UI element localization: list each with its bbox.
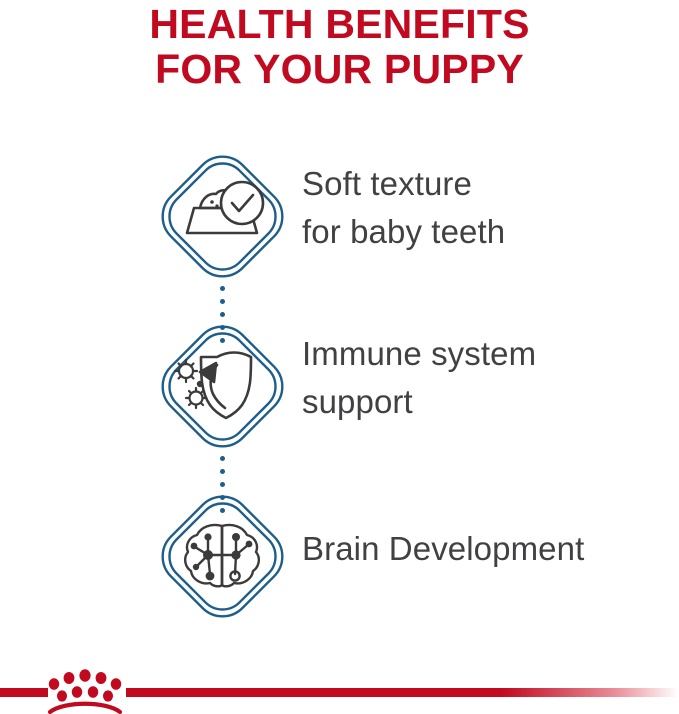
benefit-text-soft-texture: Soft texture for baby teeth: [302, 160, 679, 256]
connector-dot: [220, 286, 225, 291]
benefit-text-line-1: Immune system: [302, 330, 679, 378]
benefit-text-line-2: support: [302, 378, 679, 426]
benefits-list: Soft texture for baby teeth: [0, 150, 679, 660]
connector-dot: [220, 299, 225, 304]
benefit-text-line-2: for baby teeth: [302, 208, 679, 256]
page-title-line-2: FOR YOUR PUPPY: [0, 47, 679, 92]
benefit-text-brain-development: Brain Development: [302, 525, 679, 573]
benefit-item-immune-system: Immune system support: [0, 320, 679, 490]
footer-brand-bar: [0, 650, 679, 714]
benefit-text-immune-system: Immune system support: [302, 330, 679, 426]
shield-germ-icon: [156, 320, 289, 453]
benefit-item-soft-texture: Soft texture for baby teeth: [0, 150, 679, 320]
royal-canin-crown-logo: [44, 668, 126, 714]
page-title: HEALTH BENEFITS FOR YOUR PUPPY: [0, 2, 679, 92]
food-bowl-check-icon: [156, 150, 289, 283]
brand-bar-left-segment: [0, 688, 48, 697]
health-benefits-infographic: HEALTH BENEFITS FOR YOUR PUPPY: [0, 0, 679, 714]
benefit-text-line-1: Brain Development: [302, 525, 679, 573]
brand-bar-right-segment: [126, 688, 679, 697]
connector-dot: [220, 482, 225, 487]
connector-dot: [220, 312, 225, 317]
page-title-line-1: HEALTH BENEFITS: [0, 2, 679, 47]
brain-network-icon: [156, 490, 289, 623]
connector-dot: [220, 469, 225, 474]
benefit-text-line-1: Soft texture: [302, 160, 679, 208]
benefit-item-brain-development: Brain Development: [0, 490, 679, 660]
connector-dot: [220, 456, 225, 461]
